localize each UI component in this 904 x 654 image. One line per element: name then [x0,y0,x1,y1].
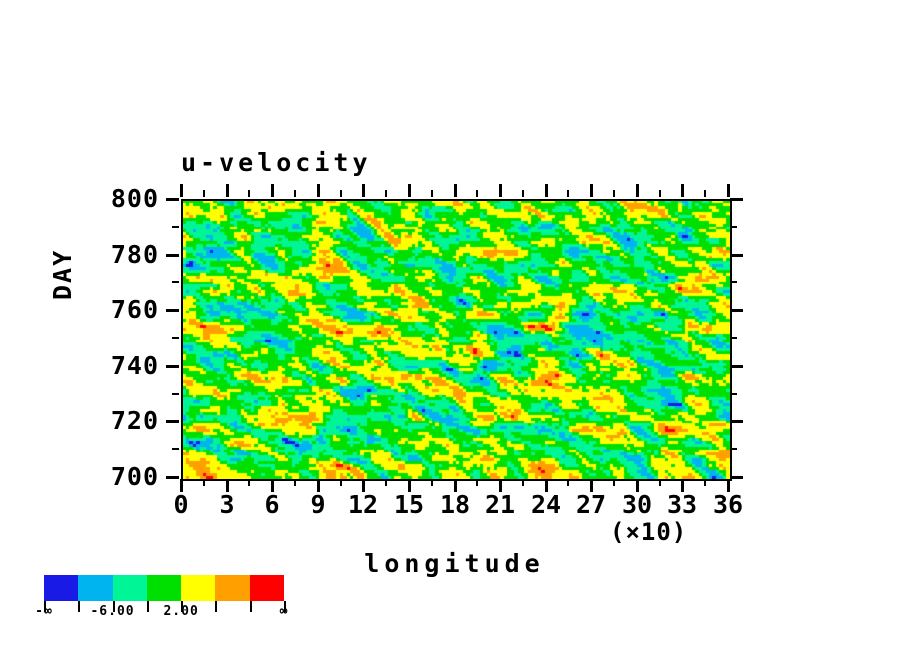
x-minor-tick [522,479,524,486]
heatmap-field [183,201,730,479]
y-tick-label: 780 [89,240,159,269]
x-major-tick-top [636,184,639,197]
y-major-tick-right [730,476,743,479]
y-major-tick-right [730,309,743,312]
y-minor-tick-right [730,281,737,283]
x-tick-label: 9 [293,490,343,519]
y-minor-tick [172,281,179,283]
x-axis-label: longitude [181,549,728,578]
x-minor-tick [431,479,433,486]
x-minor-tick-top [567,190,569,197]
y-minor-tick-right [730,393,737,395]
y-axis-label: DAY [48,249,77,300]
x-minor-tick-top [340,190,342,197]
chart-canvas: u-velocity DAY 800780760740720700 036912… [0,0,904,654]
x-tick-label: 21 [475,490,525,519]
y-tick-label: 800 [89,184,159,213]
x-minor-tick [248,479,250,486]
y-major-tick [166,365,179,368]
y-major-tick [166,309,179,312]
x-axis-multiplier: (×10) [610,518,687,546]
colorbar-tick [78,601,80,612]
y-minor-tick-right [730,337,737,339]
x-major-tick-top [317,184,320,197]
y-major-tick-right [730,420,743,423]
y-minor-tick [172,337,179,339]
colorbar-label: -∞ [14,604,74,619]
y-major-tick [166,198,179,201]
colorbar-bin-5 [215,575,249,601]
y-major-tick [166,254,179,257]
y-minor-tick [172,226,179,228]
x-minor-tick [659,479,661,486]
x-tick-label: 18 [430,490,480,519]
colorbar-bin-2 [113,575,147,601]
colorbar-tick [250,601,252,612]
x-minor-tick [340,479,342,486]
x-tick-label: 30 [612,490,662,519]
x-major-tick-top [727,184,730,197]
x-minor-tick [704,479,706,486]
x-minor-tick-top [613,190,615,197]
x-major-tick-top [545,184,548,197]
y-major-tick-right [730,254,743,257]
x-major-tick-top [590,184,593,197]
x-major-tick-top [408,184,411,197]
x-minor-tick [476,479,478,486]
colorbar [44,575,284,601]
x-tick-label: 36 [703,490,753,519]
x-tick-label: 33 [657,490,707,519]
colorbar-bin-0 [44,575,78,601]
heatmap-plot-area [181,199,732,481]
x-tick-label: 3 [202,490,252,519]
x-major-tick-top [180,184,183,197]
colorbar-tick [215,601,217,612]
x-tick-label: 12 [338,490,388,519]
x-minor-tick [385,479,387,486]
x-minor-tick-top [476,190,478,197]
colorbar-label: 2.00 [151,604,211,619]
y-major-tick [166,476,179,479]
x-minor-tick-top [203,190,205,197]
y-tick-label: 760 [89,295,159,324]
y-minor-tick [172,393,179,395]
x-major-tick-top [362,184,365,197]
x-major-tick-top [271,184,274,197]
y-major-tick-right [730,365,743,368]
x-minor-tick [294,479,296,486]
y-tick-label: 740 [89,351,159,380]
x-major-tick-top [226,184,229,197]
x-minor-tick-top [431,190,433,197]
x-major-tick-top [499,184,502,197]
x-minor-tick-top [522,190,524,197]
y-minor-tick-right [730,448,737,450]
x-tick-label: 27 [566,490,616,519]
colorbar-bin-1 [78,575,112,601]
colorbar-label: -6.00 [83,604,143,619]
chart-title: u-velocity [181,148,372,177]
x-minor-tick [203,479,205,486]
x-tick-label: 24 [521,490,571,519]
colorbar-label: ∞ [254,604,314,619]
x-minor-tick [613,479,615,486]
colorbar-tick [147,601,149,612]
x-minor-tick-top [385,190,387,197]
x-minor-tick-top [294,190,296,197]
y-tick-label: 700 [89,462,159,491]
y-minor-tick [172,448,179,450]
x-minor-tick [567,479,569,486]
x-minor-tick-top [659,190,661,197]
y-major-tick-right [730,198,743,201]
y-tick-label: 720 [89,406,159,435]
x-major-tick-top [681,184,684,197]
x-minor-tick-top [704,190,706,197]
x-tick-label: 0 [156,490,206,519]
y-minor-tick-right [730,226,737,228]
x-tick-label: 15 [384,490,434,519]
colorbar-bin-4 [181,575,215,601]
x-tick-label: 6 [247,490,297,519]
y-major-tick [166,420,179,423]
x-major-tick-top [454,184,457,197]
x-minor-tick-top [248,190,250,197]
colorbar-bin-3 [147,575,181,601]
colorbar-bin-6 [250,575,284,601]
